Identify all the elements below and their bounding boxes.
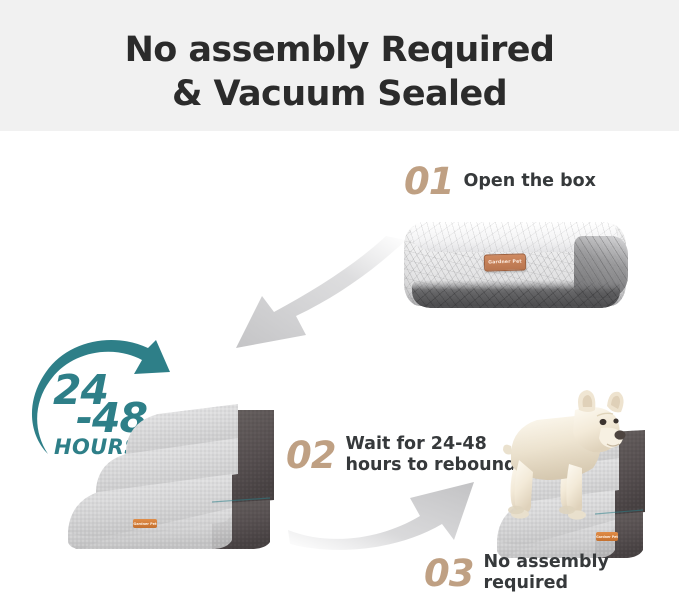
arrow-up-right-icon	[288, 472, 488, 562]
step-02: 02 Wait for 24-48 hours to rebound	[286, 434, 517, 476]
page-title: No assembly Required & Vacuum Sealed	[0, 28, 679, 116]
package-brand-label-text: Gardner Pet	[488, 260, 522, 266]
stairs-left-brand-tag-text: Gardner Pet	[133, 522, 156, 526]
package-brand-label: Gardner Pet	[484, 253, 526, 271]
step-02-text: Wait for 24-48 hours to rebound	[346, 434, 517, 476]
french-bulldog-image	[497, 388, 627, 528]
vacuum-sealed-package-image: Gardner Pet	[396, 218, 638, 326]
stairs-right-brand-tag: Gardner Pet	[596, 532, 618, 541]
step-03-text: No assembly required	[484, 552, 609, 594]
pet-stairs-left-image	[62, 392, 312, 552]
arrow-down-left-icon	[178, 236, 408, 358]
step-01: 01 Open the box	[404, 163, 596, 200]
page-title-line-2: & Vacuum Sealed	[0, 72, 679, 116]
step-01-number: 01	[404, 163, 454, 200]
step-02-number: 02	[286, 437, 336, 474]
step-03-number: 03	[424, 555, 474, 592]
stairs-left-brand-tag: Gardner Pet	[133, 519, 157, 528]
step-03: 03 No assembly required	[424, 552, 609, 594]
step-01-text: Open the box	[464, 171, 596, 192]
page-title-line-1: No assembly Required	[125, 30, 555, 70]
infographic-page: No assembly Required & Vacuum Sealed Gar…	[0, 0, 679, 599]
header-band: No assembly Required & Vacuum Sealed	[0, 0, 679, 131]
stairs-right-brand-tag-text: Gardner Pet	[596, 535, 618, 539]
package-shadow-fold	[412, 280, 620, 308]
